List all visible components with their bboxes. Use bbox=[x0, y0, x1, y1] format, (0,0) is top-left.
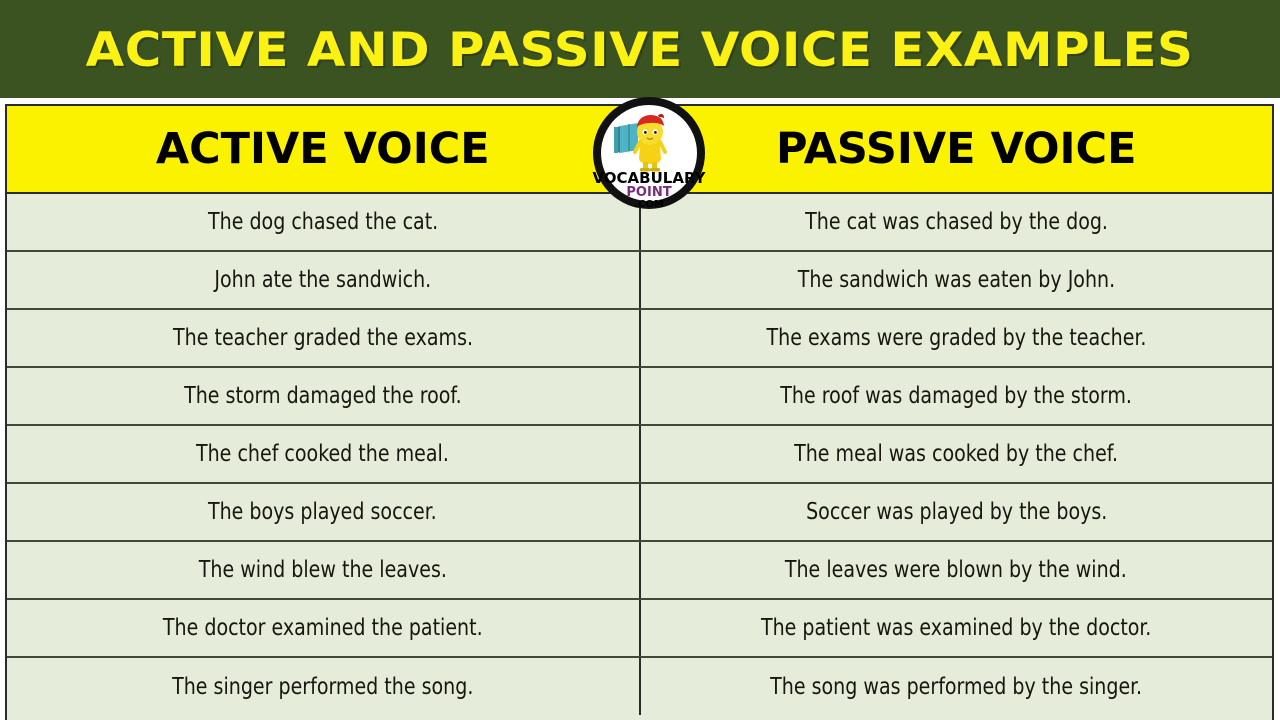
cell-text: The patient was examined by the doctor. bbox=[761, 615, 1151, 641]
cell-active: The doctor examined the patient. bbox=[7, 599, 640, 657]
cell-active: The singer performed the song. bbox=[7, 657, 640, 715]
table-row: The storm damaged the roof.The roof was … bbox=[7, 367, 1272, 425]
cell-passive: The sandwich was eaten by John. bbox=[640, 251, 1273, 309]
cell-passive: The cat was chased by the dog. bbox=[640, 193, 1273, 251]
cell-text: The cat was chased by the dog. bbox=[805, 209, 1108, 235]
cell-text: The meal was cooked by the chef. bbox=[794, 441, 1118, 467]
table-row: The doctor examined the patient.The pati… bbox=[7, 599, 1272, 657]
cell-passive: The meal was cooked by the chef. bbox=[640, 425, 1273, 483]
cell-passive: The exams were graded by the teacher. bbox=[640, 309, 1273, 367]
cell-text: Soccer was played by the boys. bbox=[806, 499, 1107, 525]
cell-text: The teacher graded the exams. bbox=[173, 325, 473, 351]
cell-passive: The leaves were blown by the wind. bbox=[640, 541, 1273, 599]
table-row: The boys played soccer.Soccer was played… bbox=[7, 483, 1272, 541]
table: ACTIVE VOICE PASSIVE VOICE The dog chase… bbox=[7, 106, 1272, 715]
table-body: The dog chased the cat.The cat was chase… bbox=[7, 193, 1272, 715]
cell-text: The roof was damaged by the storm. bbox=[780, 383, 1132, 409]
table-row: John ate the sandwich.The sandwich was e… bbox=[7, 251, 1272, 309]
cell-passive: The patient was examined by the doctor. bbox=[640, 599, 1273, 657]
cell-text: John ate the sandwich. bbox=[214, 267, 431, 293]
column-header-passive-voice: PASSIVE VOICE bbox=[640, 106, 1273, 193]
table-row: The teacher graded the exams.The exams w… bbox=[7, 309, 1272, 367]
table-header-row: ACTIVE VOICE PASSIVE VOICE bbox=[7, 106, 1272, 193]
voice-comparison-table: ACTIVE VOICE PASSIVE VOICE The dog chase… bbox=[5, 104, 1274, 720]
cell-active: The teacher graded the exams. bbox=[7, 309, 640, 367]
cell-active: The dog chased the cat. bbox=[7, 193, 640, 251]
cell-text: The storm damaged the roof. bbox=[184, 383, 462, 409]
table-row: The singer performed the song.The song w… bbox=[7, 657, 1272, 715]
cell-text: The song was performed by the singer. bbox=[770, 674, 1142, 700]
table-row: The wind blew the leaves.The leaves were… bbox=[7, 541, 1272, 599]
column-header-active-voice: ACTIVE VOICE bbox=[7, 106, 640, 193]
cell-text: The wind blew the leaves. bbox=[199, 557, 447, 583]
cell-active: The chef cooked the meal. bbox=[7, 425, 640, 483]
cell-active: The storm damaged the roof. bbox=[7, 367, 640, 425]
page-title: ACTIVE AND PASSIVE VOICE EXAMPLES bbox=[86, 27, 1194, 74]
cell-text: The sandwich was eaten by John. bbox=[798, 267, 1115, 293]
cell-text: The boys played soccer. bbox=[208, 499, 437, 525]
cell-text: The leaves were blown by the wind. bbox=[785, 557, 1127, 583]
cell-text: The doctor examined the patient. bbox=[163, 615, 483, 641]
cell-text: The chef cooked the meal. bbox=[196, 441, 449, 467]
cell-active: John ate the sandwich. bbox=[7, 251, 640, 309]
cell-text: The exams were graded by the teacher. bbox=[766, 325, 1146, 351]
table-row: The chef cooked the meal.The meal was co… bbox=[7, 425, 1272, 483]
cell-active: The wind blew the leaves. bbox=[7, 541, 640, 599]
cell-passive: Soccer was played by the boys. bbox=[640, 483, 1273, 541]
cell-text: The dog chased the cat. bbox=[208, 209, 438, 235]
table-header: ACTIVE VOICE PASSIVE VOICE bbox=[7, 106, 1272, 193]
cell-text: The singer performed the song. bbox=[172, 674, 473, 700]
title-banner: ACTIVE AND PASSIVE VOICE EXAMPLES bbox=[0, 0, 1280, 98]
cell-active: The boys played soccer. bbox=[7, 483, 640, 541]
infographic-page: ACTIVE AND PASSIVE VOICE EXAMPLES ACTIVE… bbox=[0, 0, 1280, 720]
cell-passive: The song was performed by the singer. bbox=[640, 657, 1273, 715]
table-row: The dog chased the cat.The cat was chase… bbox=[7, 193, 1272, 251]
cell-passive: The roof was damaged by the storm. bbox=[640, 367, 1273, 425]
